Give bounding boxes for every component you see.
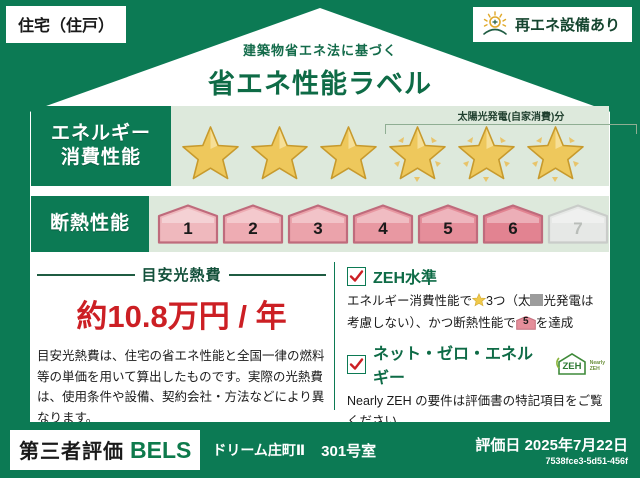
unit-number: 301号室 [321, 440, 376, 461]
title-main: 省エネ性能ラベル [0, 62, 640, 101]
energy-label-card: 住宅（住戸） 再エネ設備あり 建築物省エネ法に基づく 省エネ性 [0, 0, 640, 478]
insulation-grade-value: 2 [222, 219, 284, 239]
insulation-grade-4: 4 [352, 204, 414, 244]
insulation-grade-value: 4 [352, 219, 414, 239]
renewable-tag-label: 再エネ設備あり [515, 14, 620, 35]
inline-star-icon [472, 293, 486, 313]
inline-grade-value: 5 [516, 314, 536, 330]
utility-cost-note: 目安光熱費は、住宅の省エネ性能と全国一律の燃料等の単価を用いて算出したものです。… [37, 346, 326, 429]
net-zero-energy-check-row: ネット・ゼロ・エネルギー ZEH Nearly ZEH [347, 340, 605, 388]
energy-performance-row: エネルギー 消費性能 太陽光発電(自家消費)分 [31, 106, 609, 186]
energy-star [177, 119, 244, 183]
zeh-logo-sub2: ZEH [590, 367, 605, 373]
insulation-grade-2: 2 [222, 204, 284, 244]
zeh-standard-body: エネルギー消費性能で3つ（太光発電は考慮しない）、かつ断熱性能で5を達成 [347, 291, 605, 333]
evaluation-info: 評価日 2025年7月22日 7538fce3-5d51-456f [475, 434, 628, 466]
insulation-grade-5: 5 [417, 204, 479, 244]
zeh-standard-check-row: ZEH水準 [347, 264, 605, 288]
renewable-equipment-tag: 再エネ設備あり [473, 7, 632, 42]
net-zero-energy-title: ネット・ゼロ・エネルギー [373, 340, 544, 388]
heading-rule-right [229, 274, 327, 276]
utility-cost-value: 約10.8万円 / 年 [37, 291, 326, 336]
label-title-block: 建築物省エネ法に基づく 省エネ性能ラベル [0, 40, 640, 101]
insulation-grade-1: 1 [157, 204, 219, 244]
solar-bracket: 太陽光発電(自家消費)分 [385, 108, 637, 134]
net-zero-energy-checkbox[interactable] [347, 355, 366, 374]
insulation-grade-value: 5 [417, 219, 479, 239]
insulation-grade-scale: 1 2 3 4 5 6 7 [149, 204, 609, 244]
redacted-character [530, 294, 543, 306]
energy-row-label: エネルギー 消費性能 [31, 106, 171, 186]
insulation-grade-7: 7 [547, 204, 609, 244]
energy-star [315, 119, 382, 183]
insulation-grade-3: 3 [287, 204, 349, 244]
utility-cost-heading-text: 目安光熱費 [142, 264, 222, 285]
insulation-grade-6: 6 [482, 204, 544, 244]
insulation-grade-value: 1 [157, 219, 219, 239]
housing-type-tag: 住宅（住戸） [6, 6, 126, 43]
zeh-standard-title: ZEH水準 [373, 264, 437, 288]
zeh-body-part3: を達成 [536, 316, 574, 330]
energy-row-label-line1: エネルギー [51, 122, 151, 146]
insulation-row-body: 1 2 3 4 5 6 7 [149, 196, 609, 252]
solar-bracket-line [385, 124, 637, 134]
insulation-row-label: 断熱性能 [31, 196, 149, 252]
energy-row-label-line2: 消費性能 [61, 146, 141, 170]
footer-bar: 第三者評価 BELS ドリーム庄町Ⅱ 301号室 評価日 2025年7月22日 … [0, 422, 640, 478]
zeh-standard-checkbox[interactable] [347, 267, 366, 286]
insulation-grade-value: 6 [482, 219, 544, 239]
solar-bracket-label: 太陽光発電(自家消費)分 [385, 108, 637, 123]
building-name: ドリーム庄町Ⅱ [212, 440, 305, 460]
utility-cost-column: 目安光熱費 約10.8万円 / 年 目安光熱費は、住宅の省エネ性能と全国一律の燃… [31, 258, 334, 418]
insulation-grade-value: 7 [547, 219, 609, 239]
sun-solar-icon [481, 11, 509, 37]
energy-star [246, 119, 313, 183]
insulation-performance-row: 断熱性能 1 2 3 4 5 6 7 [31, 196, 609, 252]
insulation-grade-value: 3 [287, 219, 349, 239]
svg-text:ZEH: ZEH [562, 361, 581, 372]
evaluation-date: 評価日 2025年7月22日 [475, 434, 628, 455]
zeh-house-logo-icon: ZEH Nearly ZEH [555, 352, 605, 376]
utility-cost-heading: 目安光熱費 [37, 264, 326, 285]
heading-rule-left [37, 274, 135, 276]
details-section: 目安光熱費 約10.8万円 / 年 目安光熱費は、住宅の省エネ性能と全国一律の燃… [31, 258, 609, 418]
zeh-column: ZEH水準 エネルギー消費性能で3つ（太光発電は考慮しない）、かつ断熱性能で5を… [335, 258, 609, 418]
bels-japanese-label: 第三者評価 [19, 435, 124, 464]
energy-row-body: 太陽光発電(自家消費)分 [171, 106, 609, 186]
zeh-body-stars: 3つ（太 [486, 294, 530, 308]
inline-grade-badge: 5 [516, 316, 536, 330]
evaluation-id: 7538fce3-5d51-456f [475, 456, 628, 466]
bels-logo-text: BELS [130, 437, 191, 464]
zeh-body-part1: エネルギー消費性能で [347, 294, 472, 308]
bels-badge: 第三者評価 BELS [10, 430, 200, 470]
